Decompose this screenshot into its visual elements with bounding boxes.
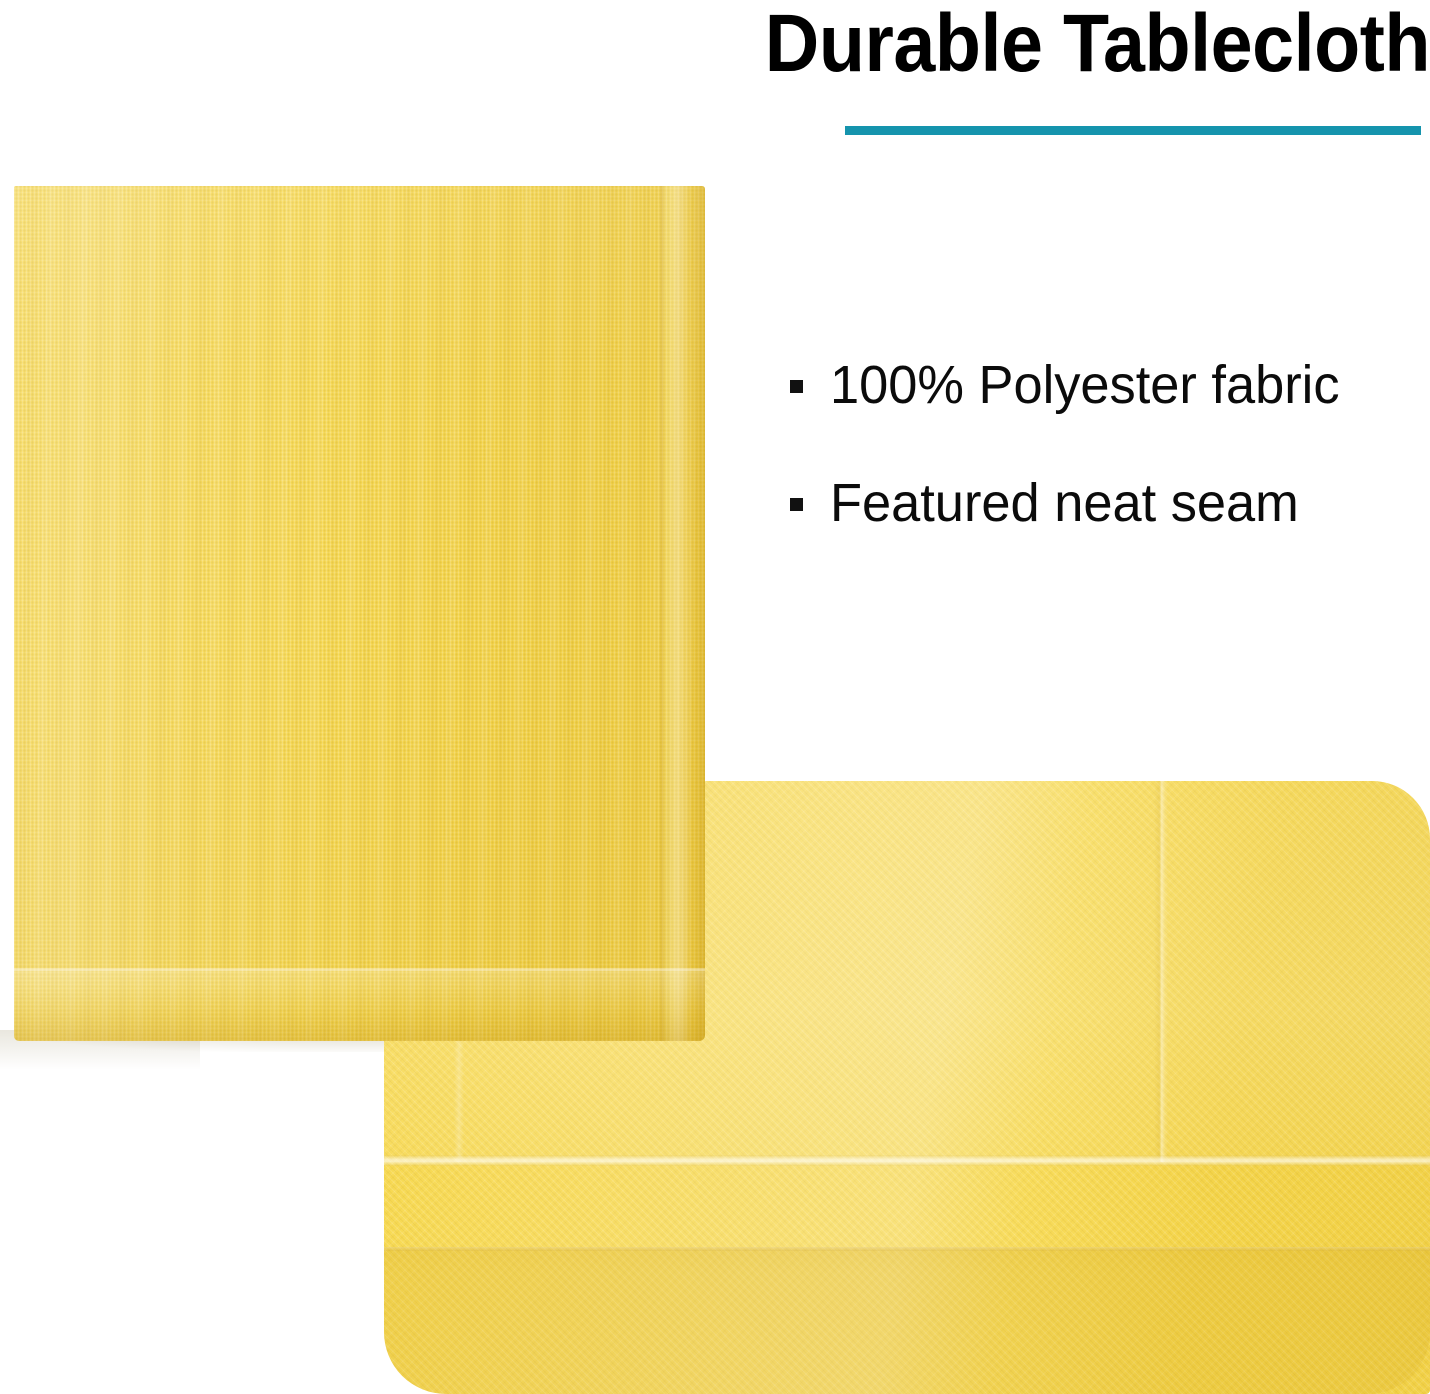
fabric-rolled-edge <box>659 186 705 1041</box>
fabric-vertical-seam <box>1154 781 1168 1162</box>
feature-label: 100% Polyester fabric <box>830 352 1393 418</box>
square-bullet-icon <box>790 498 803 511</box>
fabric-hem-band <box>384 1247 1430 1394</box>
fabric-fold-line <box>14 968 705 971</box>
feature-label: Featured neat seam <box>830 470 1393 536</box>
fabric-hem-edge <box>384 1247 1430 1251</box>
feature-list: 100% Polyester fabric Featured neat seam <box>790 352 1410 588</box>
folded-tablecloth-stack-image <box>14 186 705 1041</box>
fabric-roll-crease <box>659 186 664 1041</box>
fabric-rib-folds <box>14 186 705 1041</box>
fabric-weave-texture <box>14 186 705 1041</box>
list-item: 100% Polyester fabric <box>790 352 1410 470</box>
fabric-sheen <box>14 186 705 1041</box>
fabric-bottom-fold <box>14 969 705 1041</box>
page-title: Durable Tablecloth <box>722 0 1430 92</box>
square-bullet-icon <box>790 380 803 393</box>
product-feature-image: Durable Tablecloth 100% Polyester fabric… <box>0 0 1430 1394</box>
title-accent-rule <box>845 126 1421 135</box>
fabric-horizontal-seam <box>384 1155 1430 1166</box>
list-item: Featured neat seam <box>790 470 1410 588</box>
